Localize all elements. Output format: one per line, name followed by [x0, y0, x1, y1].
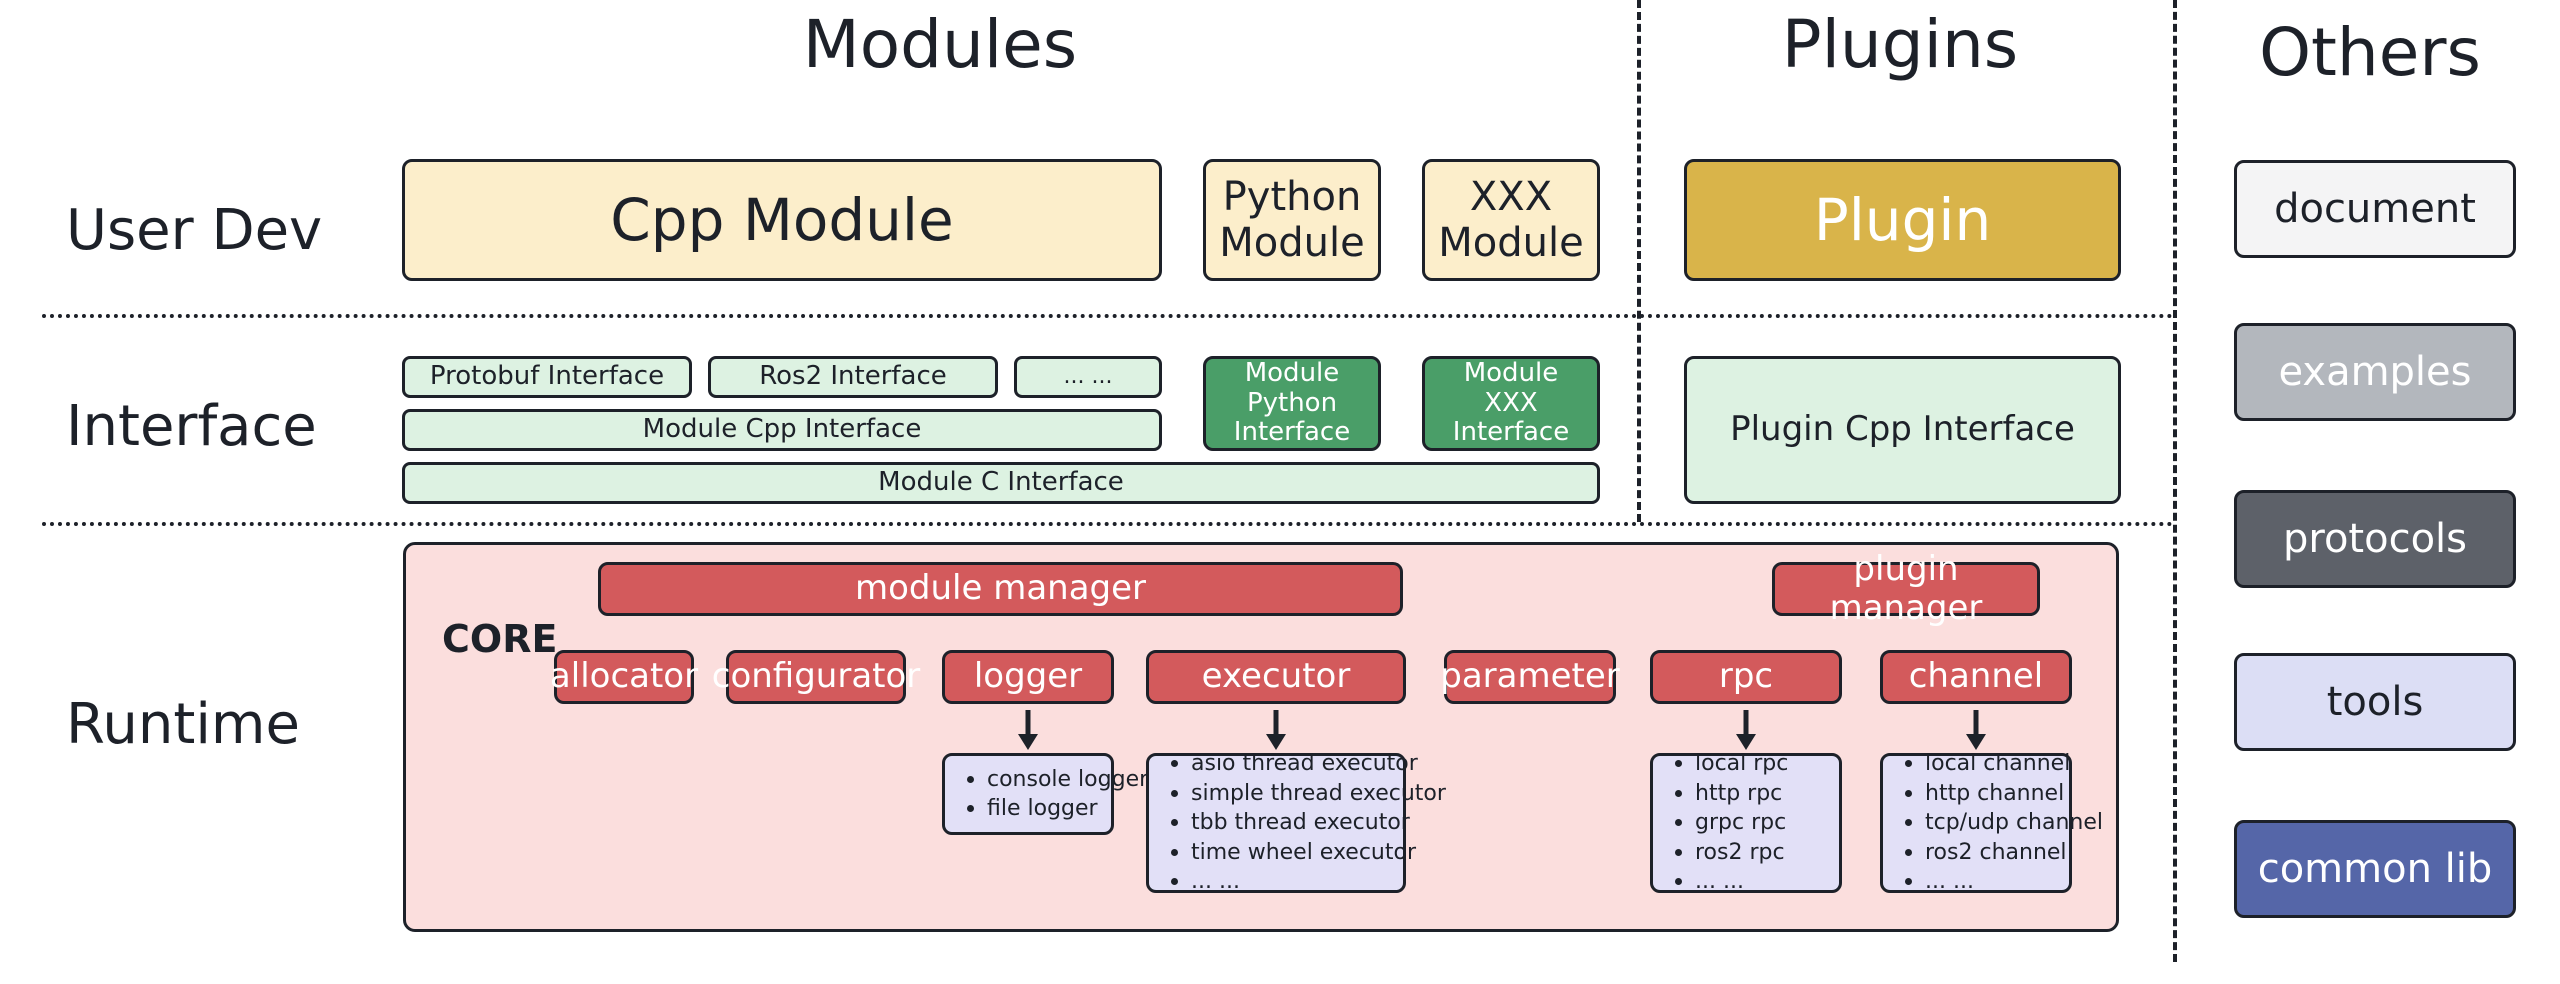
list-item: ros2 channel	[1899, 838, 2065, 867]
core-label: CORE	[442, 617, 557, 661]
allocator-label: allocator	[550, 657, 698, 696]
others-item-tools-label: tools	[2327, 679, 2424, 725]
rpc-implementations-list: local rpchttp rpcgrpc rpcros2 rpc... ...	[1663, 749, 1829, 896]
plugin-cpp-interface-label: Plugin Cpp Interface	[1730, 410, 2075, 449]
python-module-box[interactable]: Python Module	[1203, 159, 1381, 281]
protobuf-interface-box[interactable]: Protobuf Interface	[402, 356, 692, 398]
module-xxx-interface-box[interactable]: Module XXX Interface	[1422, 356, 1600, 451]
list-item: asio thread executor	[1165, 749, 1399, 778]
logger-implementations-box: console loggerfile logger	[942, 753, 1114, 835]
row-label-runtime: Runtime	[66, 692, 300, 757]
module-c-interface-label: Module C Interface	[878, 468, 1124, 498]
divider-userdev-interface	[42, 314, 2174, 318]
plugin-cpp-interface-box[interactable]: Plugin Cpp Interface	[1684, 356, 2121, 504]
python-module-label-line1: Python	[1223, 174, 1362, 220]
row-label-interface: Interface	[66, 394, 317, 459]
module-c-interface-box[interactable]: Module C Interface	[402, 462, 1600, 504]
others-item-examples[interactable]: examples	[2234, 323, 2516, 421]
list-item: file logger	[961, 794, 1107, 823]
cpp-module-box[interactable]: Cpp Module	[402, 159, 1162, 281]
module-python-interface-box[interactable]: Module Python Interface	[1203, 356, 1381, 451]
list-item: http channel	[1899, 779, 2065, 808]
column-header-modules: Modules	[640, 6, 1240, 83]
list-item: tcp/udp channel	[1899, 808, 2065, 837]
module-xxx-interface-label-line2: XXX Interface	[1425, 389, 1597, 449]
channel-label: channel	[1909, 657, 2044, 696]
divider-plugins-others	[2173, 0, 2177, 962]
list-item: console logger	[961, 765, 1107, 794]
rpc-box[interactable]: rpc	[1650, 650, 1842, 704]
divider-modules-plugins	[1637, 0, 1641, 522]
channel-arrow-icon	[1956, 708, 1996, 752]
parameter-box[interactable]: parameter	[1444, 650, 1616, 704]
logger-arrow-icon	[1008, 708, 1048, 752]
module-cpp-interface-box[interactable]: Module Cpp Interface	[402, 409, 1162, 451]
list-item: tbb thread executor	[1165, 808, 1399, 837]
list-item: grpc rpc	[1669, 808, 1829, 837]
others-item-common-lib[interactable]: common lib	[2234, 820, 2516, 918]
module-manager-label: module manager	[855, 569, 1146, 608]
list-item: simple thread executor	[1165, 779, 1399, 808]
channel-implementations-list: local channelhttp channeltcp/udp channel…	[1893, 749, 2065, 896]
list-item: ... ...	[1165, 867, 1399, 896]
plugin-manager-box[interactable]: plugin manager	[1772, 562, 2040, 616]
rpc-label: rpc	[1719, 657, 1773, 696]
module-xxx-interface-label-line1: Module	[1464, 359, 1559, 389]
list-item: ros2 rpc	[1669, 838, 1829, 867]
python-module-label-line2: Module	[1219, 220, 1364, 266]
logger-box[interactable]: logger	[942, 650, 1114, 704]
plugin-manager-label: plugin manager	[1775, 550, 2037, 628]
xxx-module-label-line2: Module	[1438, 220, 1583, 266]
architecture-diagram: Modules Plugins Others User Dev Interfac…	[0, 0, 2560, 984]
executor-label: executor	[1202, 657, 1351, 696]
rpc-implementations-box: local rpchttp rpcgrpc rpcros2 rpc... ...	[1650, 753, 1842, 893]
others-item-document[interactable]: document	[2234, 160, 2516, 258]
plugin-box[interactable]: Plugin	[1684, 159, 2121, 281]
module-manager-box[interactable]: module manager	[598, 562, 1403, 616]
module-python-interface-label-line2: Python Interface	[1206, 389, 1378, 449]
channel-implementations-box: local channelhttp channeltcp/udp channel…	[1880, 753, 2072, 893]
ros2-interface-box[interactable]: Ros2 Interface	[708, 356, 998, 398]
configurator-box[interactable]: configurator	[726, 650, 906, 704]
others-item-examples-label: examples	[2278, 349, 2471, 395]
list-item: ... ...	[1669, 867, 1829, 896]
list-item: local rpc	[1669, 749, 1829, 778]
logger-label: logger	[974, 657, 1082, 696]
column-header-others: Others	[2190, 14, 2550, 91]
list-item: local channel	[1899, 749, 2065, 778]
xxx-module-box[interactable]: XXX Module	[1422, 159, 1600, 281]
others-item-common-lib-label: common lib	[2258, 846, 2493, 892]
more-interfaces-label: ... ...	[1064, 364, 1113, 389]
executor-box[interactable]: executor	[1146, 650, 1406, 704]
row-label-user-dev: User Dev	[66, 198, 322, 263]
channel-box[interactable]: channel	[1880, 650, 2072, 704]
executor-arrow-icon	[1256, 708, 1296, 752]
allocator-box[interactable]: allocator	[554, 650, 694, 704]
protobuf-interface-label: Protobuf Interface	[430, 362, 664, 392]
list-item: time wheel executor	[1165, 838, 1399, 867]
others-item-document-label: document	[2274, 186, 2476, 232]
more-interfaces-box[interactable]: ... ...	[1014, 356, 1162, 398]
executor-implementations-box: asio thread executorsimple thread execut…	[1146, 753, 1406, 893]
xxx-module-label-line1: XXX	[1470, 174, 1552, 220]
list-item: http rpc	[1669, 779, 1829, 808]
ros2-interface-label: Ros2 Interface	[759, 362, 947, 392]
plugin-label: Plugin	[1814, 187, 1992, 254]
logger-implementations-list: console loggerfile logger	[955, 765, 1107, 824]
divider-interface-runtime	[42, 522, 2174, 526]
column-header-plugins: Plugins	[1680, 6, 2120, 83]
configurator-label: configurator	[712, 657, 921, 696]
module-cpp-interface-label: Module Cpp Interface	[643, 415, 922, 445]
executor-implementations-list: asio thread executorsimple thread execut…	[1159, 749, 1399, 896]
others-item-protocols[interactable]: protocols	[2234, 490, 2516, 588]
module-python-interface-label-line1: Module	[1245, 359, 1340, 389]
others-item-tools[interactable]: tools	[2234, 653, 2516, 751]
cpp-module-label: Cpp Module	[610, 187, 953, 254]
rpc-arrow-icon	[1726, 708, 1766, 752]
list-item: ... ...	[1899, 867, 2065, 896]
parameter-label: parameter	[1440, 657, 1620, 696]
others-item-protocols-label: protocols	[2283, 516, 2467, 562]
